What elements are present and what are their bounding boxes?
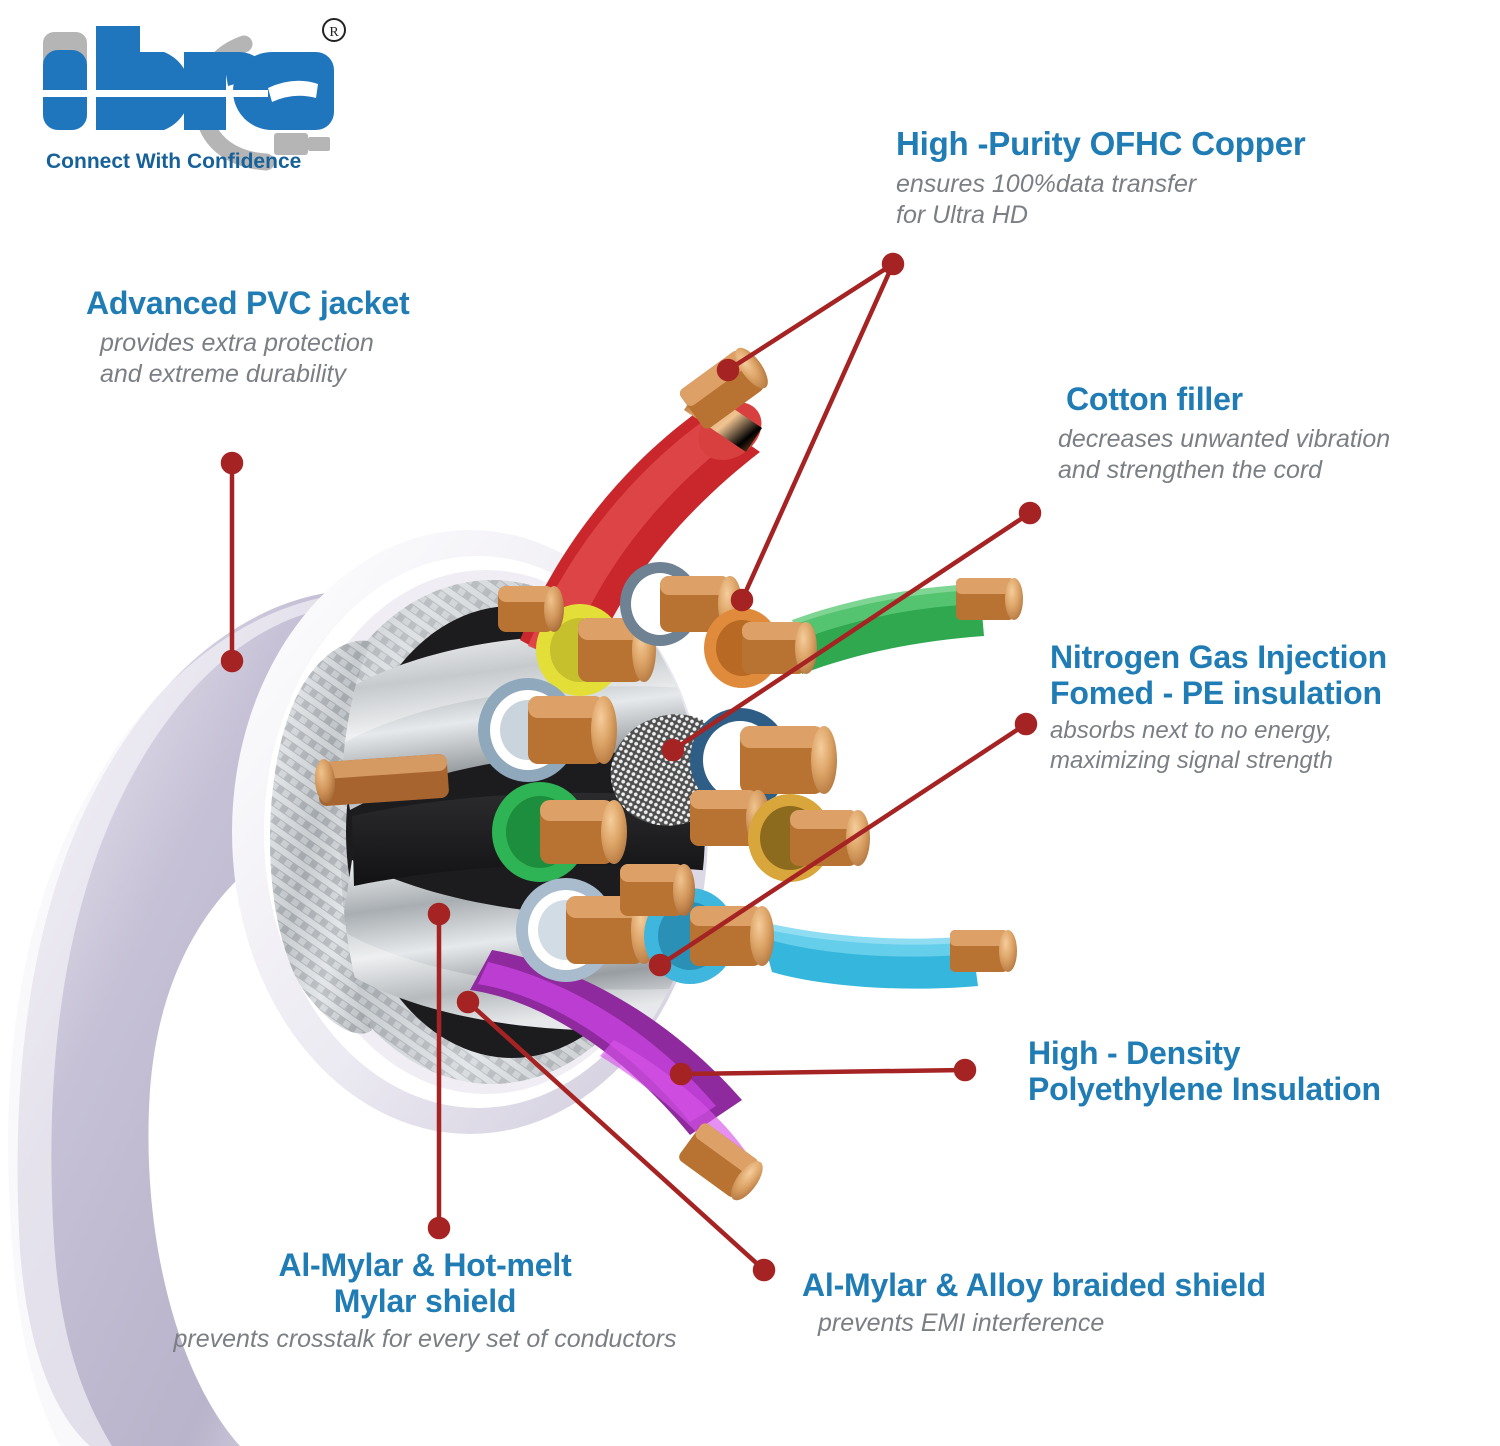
callout-almylar-alloy-braided-shield: Al-Mylar & Alloy braided shield prevents…: [802, 1268, 1266, 1339]
conductor-bare-copper-left: [313, 754, 449, 807]
callout-title: Cotton filler: [1058, 382, 1390, 418]
callout-almylar-hotmelt-shield: Al-Mylar & Hot-melt Mylar shield prevent…: [115, 1248, 735, 1355]
callout-subtitle: provides extra protection and extreme du…: [86, 328, 409, 391]
callout-title: High -Purity OFHC Copper: [896, 126, 1306, 163]
callout-title: Advanced PVC jacket: [86, 286, 409, 322]
infographic-canvas: R Connect With Confidence: [0, 0, 1500, 1446]
callout-subtitle: decreases unwanted vibration and strengt…: [1058, 424, 1390, 487]
callout-title: High - Density Polyethylene Insulation: [1028, 1036, 1381, 1108]
callout-cotton-filler: Cotton filler decreases unwanted vibrati…: [1058, 382, 1390, 486]
callout-subtitle: absorbs next to no energy, maximizing si…: [1050, 716, 1387, 776]
conductor-cyan: [760, 922, 1017, 989]
conductor-copper-lower: [620, 864, 695, 916]
callout-pvc-jacket: Advanced PVC jacket provides extra prote…: [86, 286, 409, 390]
callout-title: Al-Mylar & Hot-melt Mylar shield: [115, 1248, 735, 1320]
callout-title: Al-Mylar & Alloy braided shield: [802, 1268, 1266, 1304]
callout-subtitle: prevents crosstalk for every set of cond…: [115, 1324, 735, 1355]
callout-hdpe-insulation: High - Density Polyethylene Insulation: [1028, 1036, 1381, 1108]
callout-ofhc-copper: High -Purity OFHC Copper ensures 100%dat…: [896, 126, 1306, 231]
conductor-green: [790, 578, 1023, 674]
callout-subtitle: prevents EMI interference: [802, 1308, 1266, 1339]
callout-title: Nitrogen Gas Injection Fomed - PE insula…: [1050, 640, 1387, 712]
conductor-gold-lower: [748, 794, 870, 882]
callout-subtitle: ensures 100%data transfer for Ultra HD: [896, 169, 1306, 232]
conductor-copper-far-left: [498, 586, 564, 632]
callout-nitrogen-gas-insulation: Nitrogen Gas Injection Fomed - PE insula…: [1050, 640, 1387, 776]
